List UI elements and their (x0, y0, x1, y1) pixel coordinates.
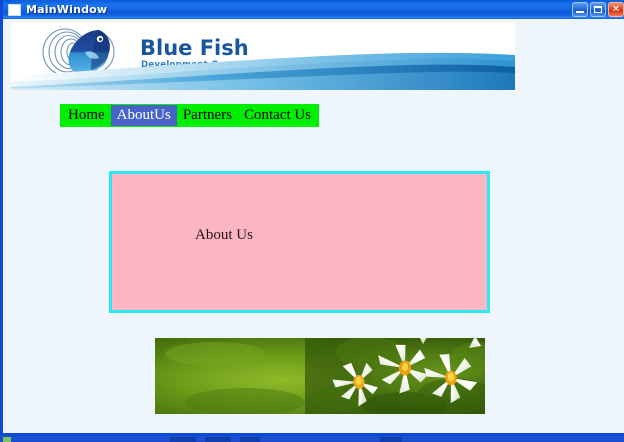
nav-item-contact-us[interactable]: Contact Us (238, 105, 317, 126)
taskbar-item-mark (205, 437, 231, 442)
nav-item-partners[interactable]: Partners (177, 105, 238, 126)
desktop-taskbar-sliver (0, 436, 624, 442)
footer-graphic (155, 338, 485, 414)
footer-banner-image (155, 338, 485, 414)
client-area: Blue Fish Development Group Home AboutUs… (6, 19, 624, 433)
banner-graphic: Blue Fish Development Group (11, 22, 515, 90)
close-button[interactable] (608, 2, 624, 17)
logo-title: Blue Fish (140, 36, 249, 60)
taskbar-start-mark (3, 437, 11, 442)
taskbar-clock-mark (380, 437, 402, 442)
title-bar[interactable]: MainWindow (3, 0, 624, 19)
taskbar-item-mark (240, 437, 260, 442)
nav-item-aboutus[interactable]: AboutUs (111, 105, 177, 126)
window-icon (8, 4, 21, 16)
nav-item-home[interactable]: Home (62, 105, 111, 126)
main-navigation: Home AboutUs Partners Contact Us (60, 104, 319, 127)
minimize-button[interactable] (572, 2, 588, 17)
maximize-button[interactable] (590, 2, 606, 17)
window-title: MainWindow (26, 3, 107, 16)
page-title: About Us (195, 227, 253, 244)
window-controls (572, 2, 624, 17)
main-window: MainWindow (0, 0, 624, 436)
taskbar-item-mark (170, 437, 196, 442)
site-banner: Blue Fish Development Group (11, 22, 515, 90)
content-panel: About Us (109, 171, 490, 313)
content-panel-inner: About Us (115, 177, 484, 307)
